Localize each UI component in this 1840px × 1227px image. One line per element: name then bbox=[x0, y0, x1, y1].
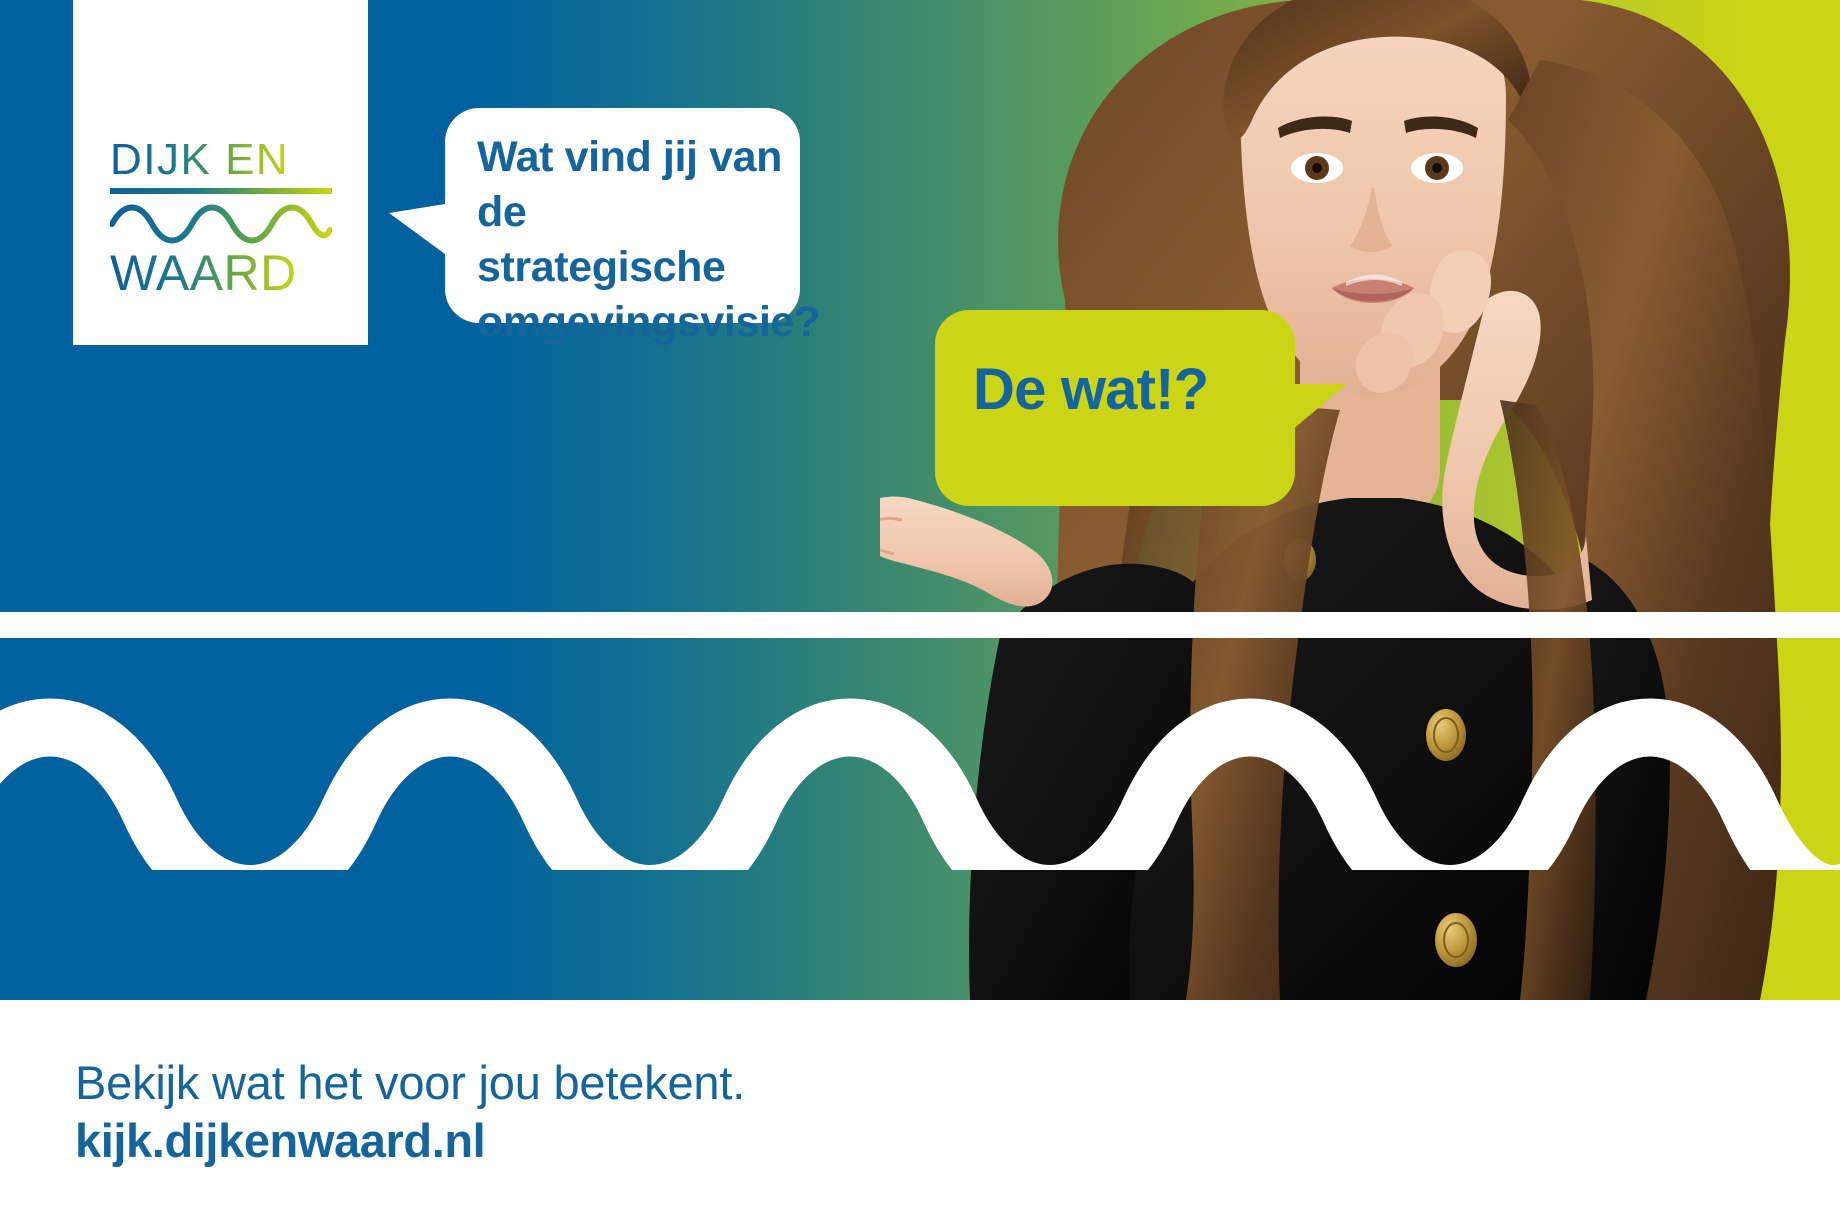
question-line-2: de strategische bbox=[477, 185, 782, 295]
white-wave-graphic bbox=[0, 660, 1840, 870]
svg-text:DIJK EN: DIJK EN bbox=[110, 138, 289, 184]
reaction-speech-bubble: De wat!? bbox=[935, 310, 1295, 506]
reaction-bubble-text: De wat!? bbox=[973, 358, 1208, 422]
question-line-3: omgevingsvisie? bbox=[477, 295, 782, 350]
footer-tagline: Bekijk wat het voor jou betekent. bbox=[75, 1055, 745, 1110]
poster-canvas: DIJK EN WAARD Wat vind jij van de strate… bbox=[0, 0, 1840, 1227]
bubble-tail-left-icon bbox=[389, 204, 445, 254]
footer-url[interactable]: kijk.dijkenwaard.nl bbox=[75, 1113, 485, 1168]
bubble-tail-right-icon bbox=[1292, 384, 1347, 430]
question-speech-bubble: Wat vind jij van de strategische omgevin… bbox=[445, 108, 800, 323]
footer-bar: Bekijk wat het voor jou betekent. kijk.d… bbox=[0, 1000, 1840, 1227]
white-stripe bbox=[0, 612, 1840, 638]
question-bubble-text: Wat vind jij van de strategische omgevin… bbox=[477, 130, 782, 350]
logo-card: DIJK EN WAARD bbox=[73, 0, 368, 345]
gradient-banner: DIJK EN WAARD Wat vind jij van de strate… bbox=[0, 0, 1840, 1000]
dijk-en-waard-logo: DIJK EN WAARD bbox=[110, 138, 332, 303]
question-line-1: Wat vind jij van bbox=[477, 130, 782, 185]
svg-text:WAARD: WAARD bbox=[110, 245, 297, 301]
